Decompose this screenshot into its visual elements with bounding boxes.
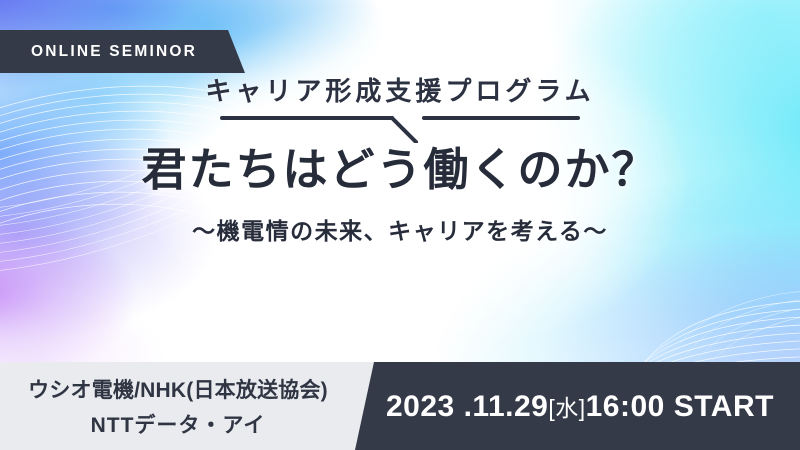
footer-bar: ウシオ電機/NHK(日本放送協会) NTTデータ・アイ 2023 .11.29[…	[0, 362, 800, 450]
organizers-block: ウシオ電機/NHK(日本放送協会) NTTデータ・アイ	[0, 362, 356, 450]
seminar-poster: ONLINE SEMINOR キャリア形成支援プログラム 君たちはどう働くのか？…	[0, 0, 800, 450]
program-kicker: キャリア形成支援プログラム	[0, 78, 800, 107]
badge-label: ONLINE SEMINOR	[0, 43, 197, 61]
online-seminar-badge: ONLINE SEMINOR	[0, 30, 245, 73]
headline-block: キャリア形成支援プログラム 君たちはどう働くのか？ 〜機電情の未来、キャリアを考…	[0, 78, 800, 246]
schedule-date-text: 2023 .11.29[水]16:00 START	[386, 389, 774, 424]
tagline: 〜機電情の未来、キャリアを考える〜	[0, 212, 800, 246]
organizer-line-2: NTTデータ・アイ	[91, 409, 266, 439]
decorative-underline	[220, 113, 580, 143]
schedule-day-of-week: [水]	[548, 395, 585, 421]
organizer-line-1: ウシオ電機/NHK(日本放送協会)	[28, 374, 328, 404]
schedule-block: 2023 .11.29[水]16:00 START	[386, 362, 774, 450]
schedule-time: 16:00	[586, 390, 665, 423]
page-title: 君たちはどう働くのか？	[0, 145, 800, 195]
schedule-date: 2023 .11.29	[386, 390, 548, 423]
schedule-start-label: START	[674, 390, 774, 423]
